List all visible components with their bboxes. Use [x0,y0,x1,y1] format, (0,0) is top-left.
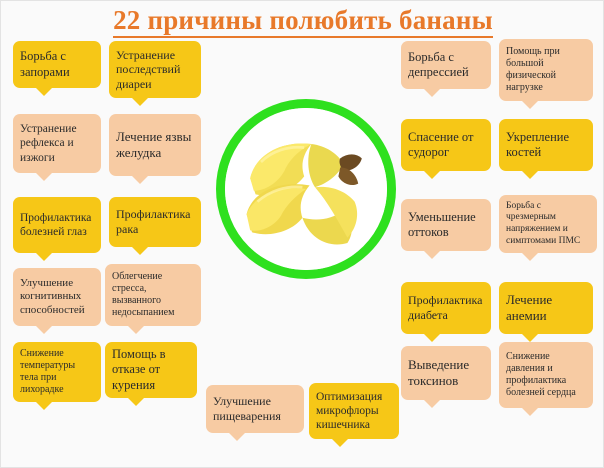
reason-label: Устранение последствий диареи [116,48,194,92]
reason-label: Лечение анемии [506,292,586,324]
reason-label: Профилактика диабета [408,293,484,322]
reason-bubble-17[interactable]: Уменьшение оттоков [401,199,491,251]
reason-bubble-1[interactable]: Борьба с запорами [13,41,101,88]
reason-label: Помощь в отказе от курения [112,347,190,393]
reason-bubble-16[interactable]: Укрепление костей [499,119,593,171]
banana-bunch-icon [225,108,387,270]
reason-label: Устранение рефлекса и изжоги [20,122,94,164]
reason-bubble-5[interactable]: Профилактика болезней глаз [13,197,101,253]
reason-label: Борьба с депрессией [408,50,484,81]
reason-bubble-12[interactable]: Оптимизация микрофлоры кишечника [309,383,399,439]
reason-bubble-13[interactable]: Борьба с депрессией [401,41,491,89]
page-title: 22 причины полюбить бананы [1,5,604,36]
reason-label: Профилактика болезней глаз [20,211,94,239]
reason-bubble-20[interactable]: Лечение анемии [499,282,593,334]
banana-medallion [216,99,396,279]
reason-bubble-3[interactable]: Устранение рефлекса и изжоги [13,114,101,173]
reason-bubble-9[interactable]: Снижение температуры тела при лихорадке [13,342,101,402]
reason-bubble-7[interactable]: Улучшение когнитивных способностей [13,268,101,326]
reason-bubble-10[interactable]: Помощь в отказе от курения [105,342,197,398]
reason-label: Борьба с запорами [20,49,94,80]
reason-label: Укрепление костей [506,130,586,161]
reason-label: Улучшение пищеварения [213,394,297,423]
reason-bubble-21[interactable]: Выведение токсинов [401,346,491,400]
reason-bubble-14[interactable]: Помощь при большой физической нагрузке [499,39,593,101]
page-title-text: 22 причины полюбить бананы [113,5,493,38]
reason-label: Выведение токсинов [408,357,484,389]
reason-label: Борьба с чрезмерным напряжением и симпто… [506,201,590,247]
reason-bubble-15[interactable]: Спасение от судорог [401,119,491,171]
infographic-canvas: 22 причины полюбить бананы Борьба с запо… [0,0,604,468]
reason-label: Оптимизация микрофлоры кишечника [316,390,392,432]
reason-bubble-11[interactable]: Улучшение пищеварения [206,385,304,433]
reason-label: Лечение язвы желудка [116,129,194,161]
reason-label: Уменьшение оттоков [408,210,484,241]
reason-label: Снижение давления и профилактика болезне… [506,351,586,400]
reason-bubble-18[interactable]: Борьба с чрезмерным напряжением и симпто… [499,195,597,253]
reason-bubble-22[interactable]: Снижение давления и профилактика болезне… [499,342,593,408]
reason-bubble-19[interactable]: Профилактика диабета [401,282,491,334]
reason-bubble-2[interactable]: Устранение последствий диареи [109,41,201,98]
reason-label: Профилактика рака [116,207,194,236]
reason-label: Облегчение стресса, вызванного недосыпан… [112,271,194,320]
reason-bubble-4[interactable]: Лечение язвы желудка [109,114,201,176]
reason-label: Спасение от судорог [408,130,484,161]
reason-label: Снижение температуры тела при лихорадке [20,348,94,397]
reason-label: Улучшение когнитивных способностей [20,277,94,317]
reason-label: Помощь при большой физической нагрузке [506,46,586,95]
reason-bubble-6[interactable]: Профилактика рака [109,197,201,247]
reason-bubble-8[interactable]: Облегчение стресса, вызванного недосыпан… [105,264,201,326]
